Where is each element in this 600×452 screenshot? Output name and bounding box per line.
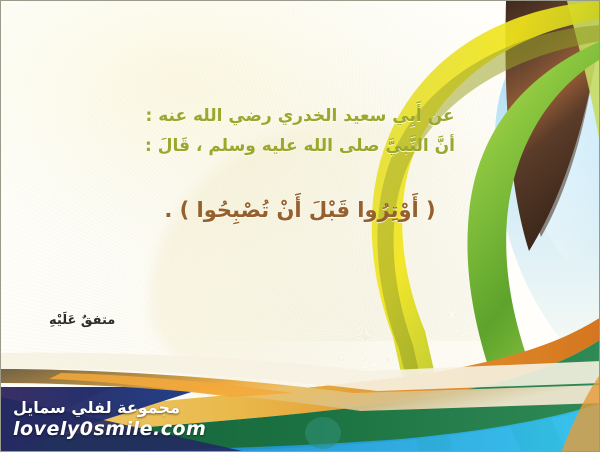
narrator-block: عن أَبِي سعيد الخدري رضي الله عنه : أنَّ… — [1, 101, 599, 161]
narrator-line-1: عن أَبِي سعيد الخدري رضي الله عنه : — [1, 101, 599, 131]
hadith-attribution: متفقٌ عَلَيْهِ — [49, 313, 115, 328]
narrator-line-2: أنَّ النَّبيَّ صلى الله عليه وسلم ، قَال… — [1, 131, 599, 161]
islamic-quote-card: عن أَبِي سعيد الخدري رضي الله عنه : أنَّ… — [0, 0, 600, 452]
brand-name-arabic: مجموعة لفلي سمايل — [13, 399, 273, 417]
brand-website[interactable]: lovely0smile.com — [13, 417, 273, 441]
footer-branding: مجموعة لفلي سمايل lovely0smile.com — [13, 399, 273, 441]
text-layer: عن أَبِي سعيد الخدري رضي الله عنه : أنَّ… — [1, 1, 599, 451]
hadith-text: ( أَوْتِرُوا قَبْلَ أَنْ تُصْبِحُوا ) . — [1, 193, 599, 227]
